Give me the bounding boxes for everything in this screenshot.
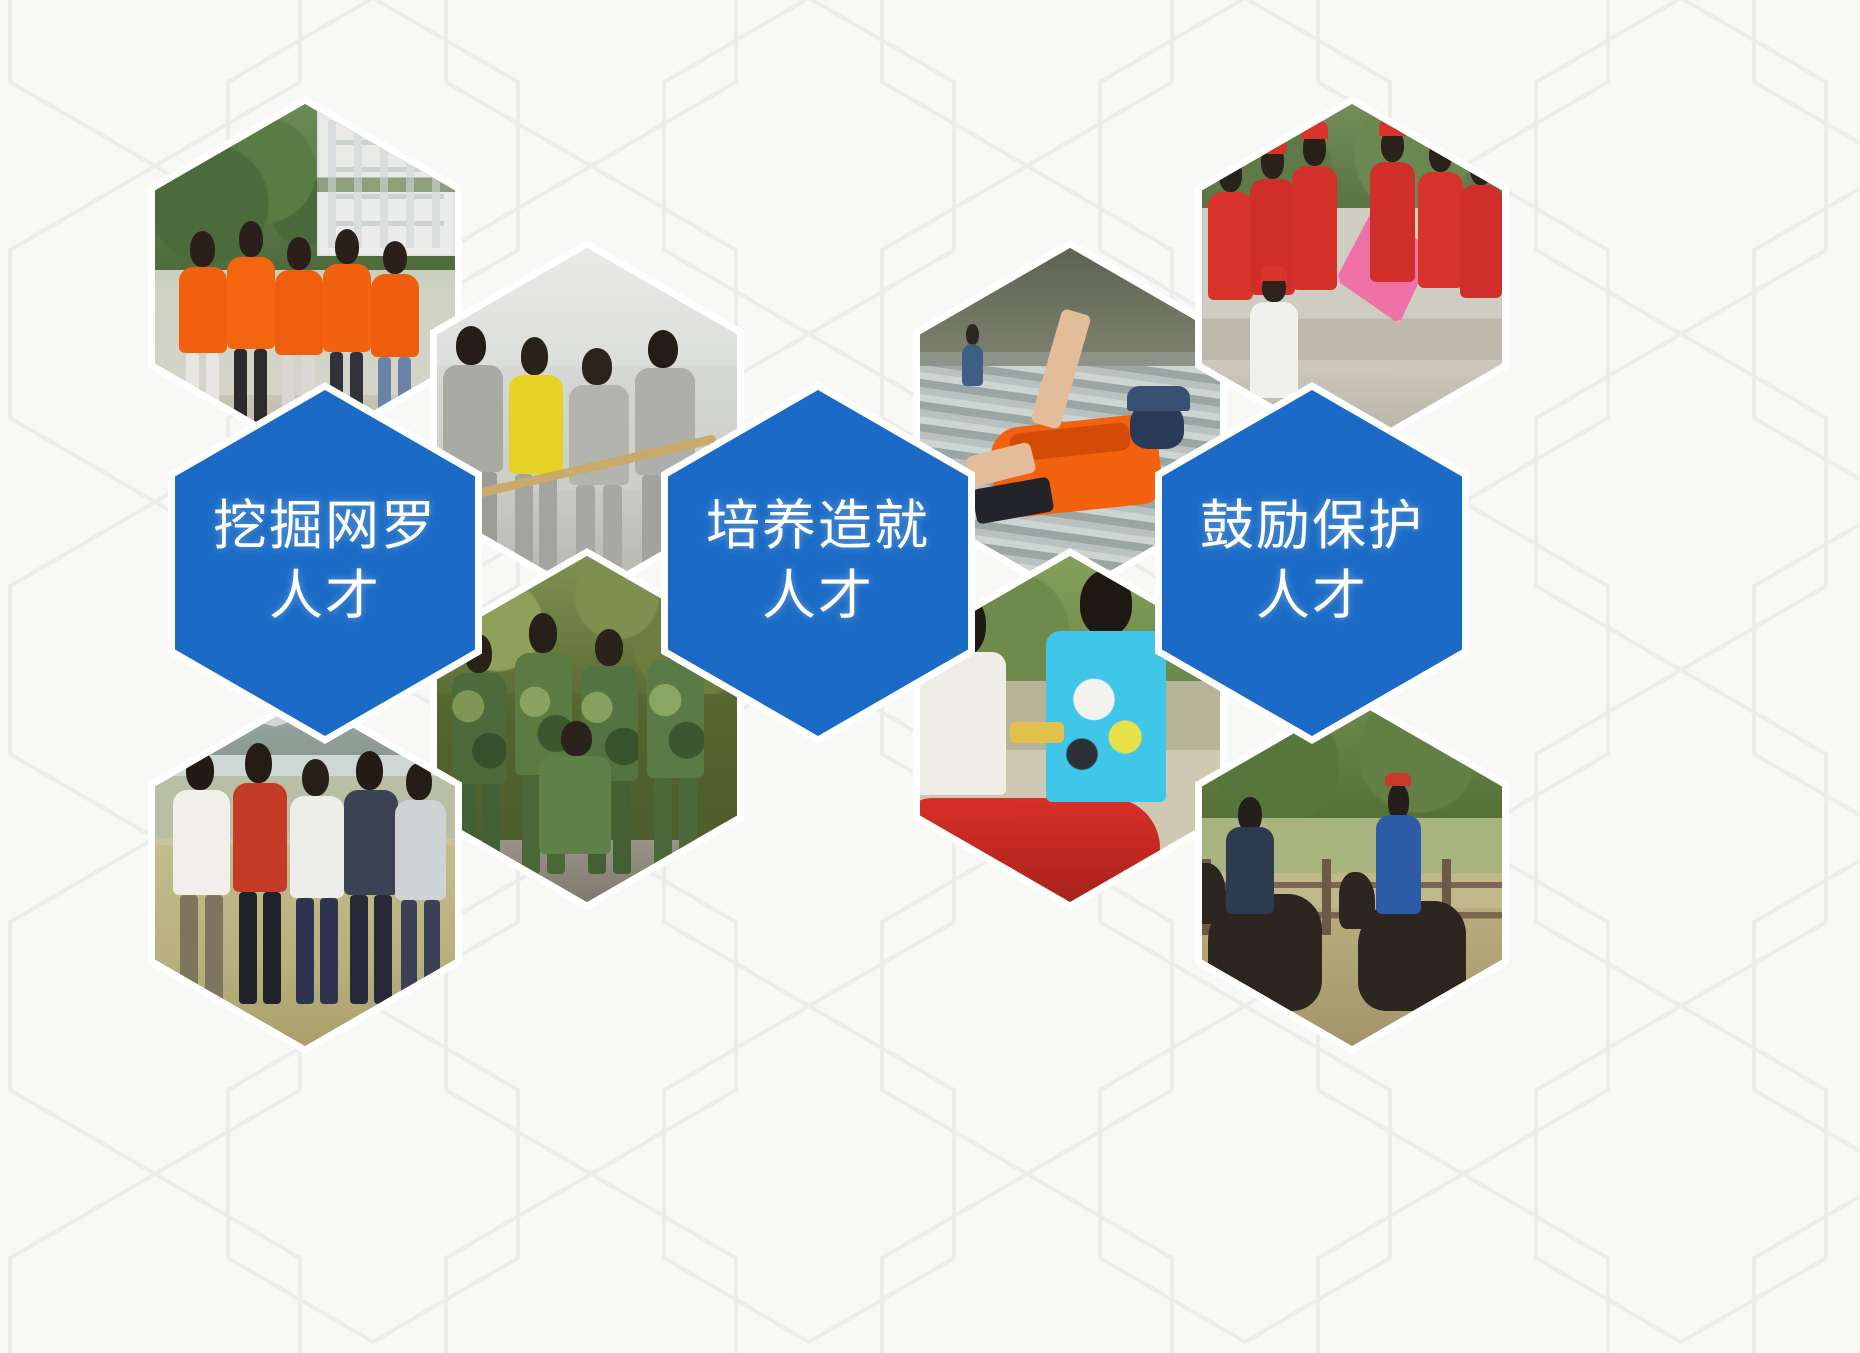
photo-hex-horse-riding [1202, 700, 1502, 1046]
hexagon-infographic: 挖掘网罗 人才 培养造就 人才 鼓励保护 人才 [0, 0, 1860, 1353]
photo-hex-red-cap-flag [1202, 104, 1502, 450]
label-hex-cultivate-text: 培养造就 人才 [706, 491, 930, 635]
photo-hex-field-march [155, 700, 455, 1046]
label-hex-encourage-text: 鼓励保护 人才 [1200, 491, 1424, 635]
label-hex-discover-text: 挖掘网罗 人才 [213, 491, 437, 635]
